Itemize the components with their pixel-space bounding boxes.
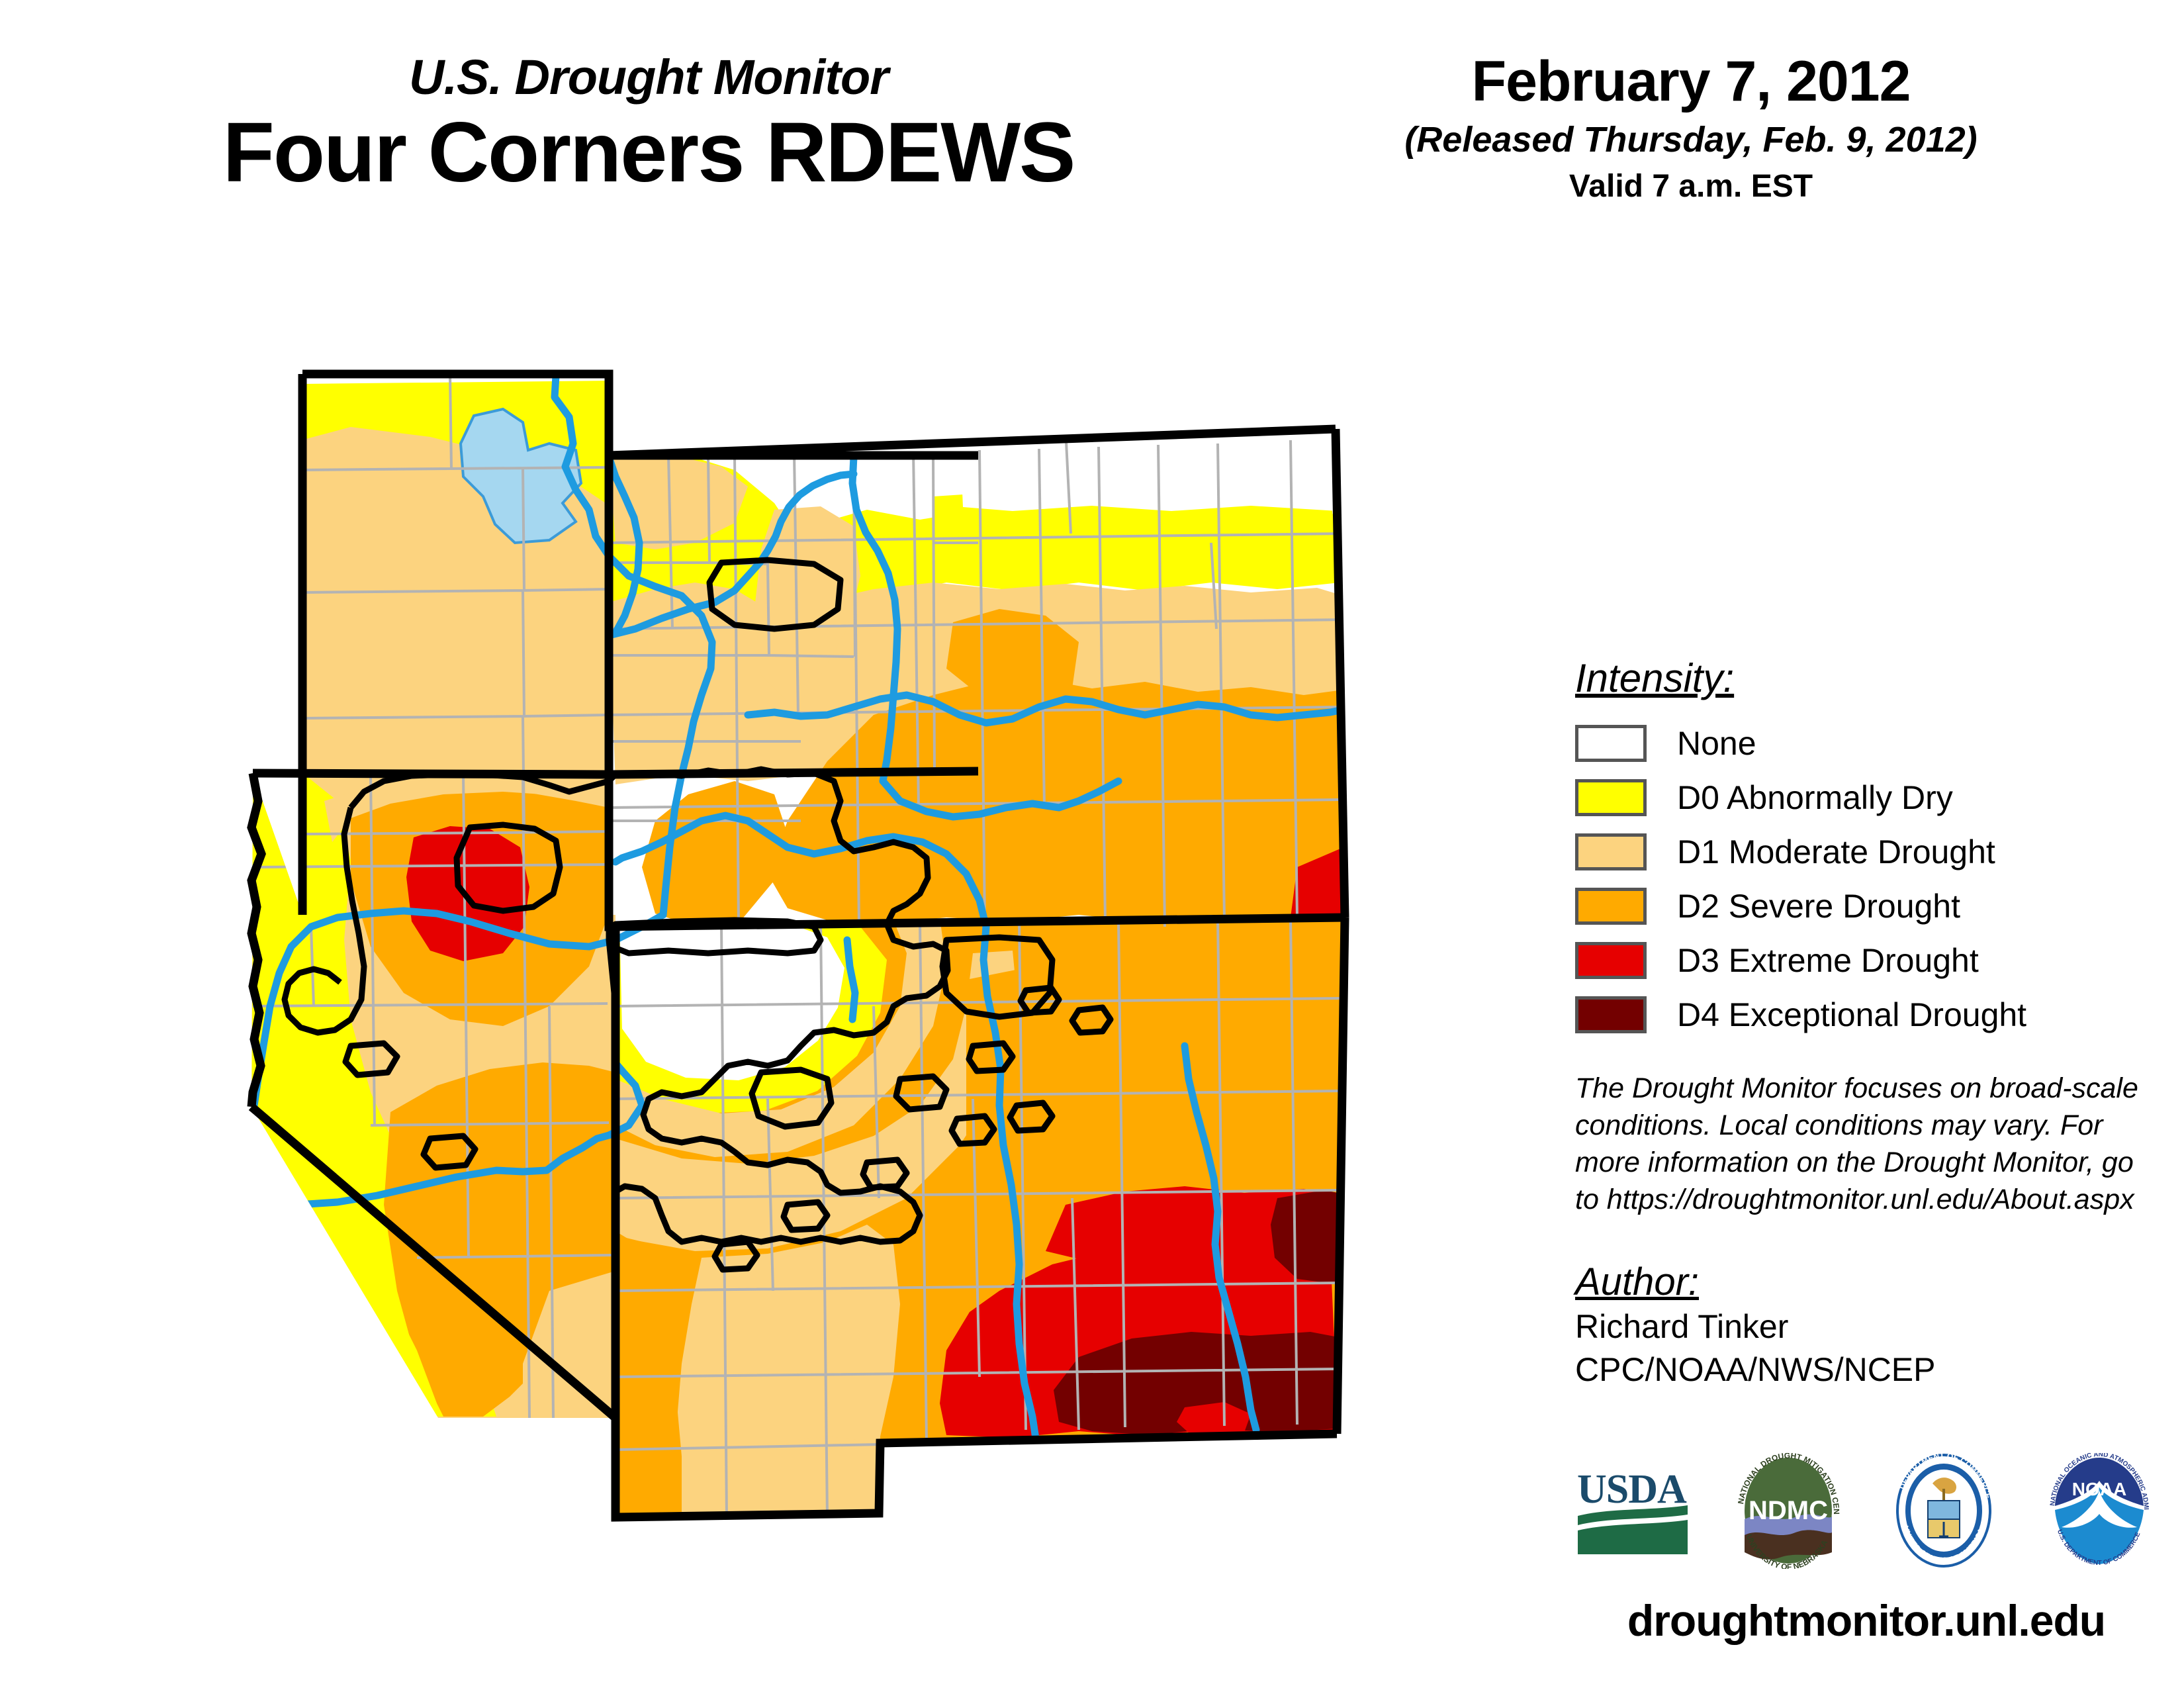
page-title: Four Corners RDEWS [218, 107, 1079, 199]
map-side-panel: Intensity: None D0 Abnormally Dry D1 Mod… [1575, 655, 2158, 1390]
legend-swatch-d3 [1575, 942, 1647, 979]
legend-swatch-none [1575, 725, 1647, 762]
drought-map[interactable] [152, 344, 1449, 1615]
page-subtitle: U.S. Drought Monitor [218, 53, 1079, 102]
author-name: Richard Tinker [1575, 1307, 2158, 1347]
doc-logo[interactable]: DEPARTMENT OF COMMERCE UNITED STATES OF … [1886, 1453, 2002, 1572]
legend-item-d1[interactable]: D1 Moderate Drought [1575, 827, 2158, 877]
legend-item-none[interactable]: None [1575, 718, 2158, 769]
valid-time: Valid 7 a.m. EST [1383, 171, 1999, 203]
title-block: U.S. Drought Monitor Four Corners RDEWS [218, 53, 1079, 199]
legend-item-d0[interactable]: D0 Abnormally Dry [1575, 773, 2158, 823]
author-heading: Author: [1575, 1260, 1699, 1304]
disclaimer-text: The Drought Monitor focuses on broad-sca… [1575, 1070, 2158, 1219]
legend-label-none: None [1677, 724, 1756, 763]
legend-label-d0: D0 Abnormally Dry [1677, 778, 1953, 817]
author-affiliation: CPC/NOAA/NWS/NCEP [1575, 1350, 2158, 1390]
ndmc-logo[interactable]: NDMC NATIONAL DROUGHT MITIGATION CENTER … [1731, 1453, 1846, 1572]
valid-date: February 7, 2012 [1383, 53, 1999, 110]
legend-heading: Intensity: [1575, 655, 1734, 701]
site-url[interactable]: droughtmonitor.unl.edu [1575, 1595, 2158, 1646]
legend-item-d4[interactable]: D4 Exceptional Drought [1575, 990, 2158, 1040]
released-date: (Released Thursday, Feb. 9, 2012) [1383, 122, 1999, 158]
drought-map-svg[interactable] [152, 344, 1449, 1615]
noaa-logo[interactable]: NOAA NATIONAL OCEANIC AND ATMOSPHERIC AD… [2042, 1453, 2158, 1572]
date-block: February 7, 2012 (Released Thursday, Feb… [1383, 53, 1999, 203]
legend-label-d1: D1 Moderate Drought [1677, 833, 1995, 871]
legend-label-d2: D2 Severe Drought [1677, 887, 1960, 925]
legend-swatch-d1 [1575, 833, 1647, 870]
page-header: U.S. Drought Monitor Four Corners RDEWS … [0, 0, 2184, 265]
svg-text:NOAA: NOAA [2072, 1479, 2126, 1499]
usda-logo[interactable]: USDA [1575, 1462, 1691, 1564]
legend-swatch-d0 [1575, 779, 1647, 816]
logo-row: USDA NDMC NATIONAL DROUGHT MITIGATION CE… [1575, 1450, 2158, 1575]
svg-text:USDA: USDA [1577, 1467, 1687, 1512]
svg-text:NDMC: NDMC [1749, 1496, 1828, 1525]
utah-south-border [253, 771, 978, 774]
legend-item-d2[interactable]: D2 Severe Drought [1575, 881, 2158, 931]
legend-item-d3[interactable]: D3 Extreme Drought [1575, 935, 2158, 986]
legend-list: None D0 Abnormally Dry D1 Moderate Droug… [1575, 718, 2158, 1040]
legend-label-d4: D4 Exceptional Drought [1677, 996, 2026, 1034]
legend-label-d3: D3 Extreme Drought [1677, 941, 1979, 980]
legend-swatch-d2 [1575, 888, 1647, 925]
legend-swatch-d4 [1575, 996, 1647, 1033]
